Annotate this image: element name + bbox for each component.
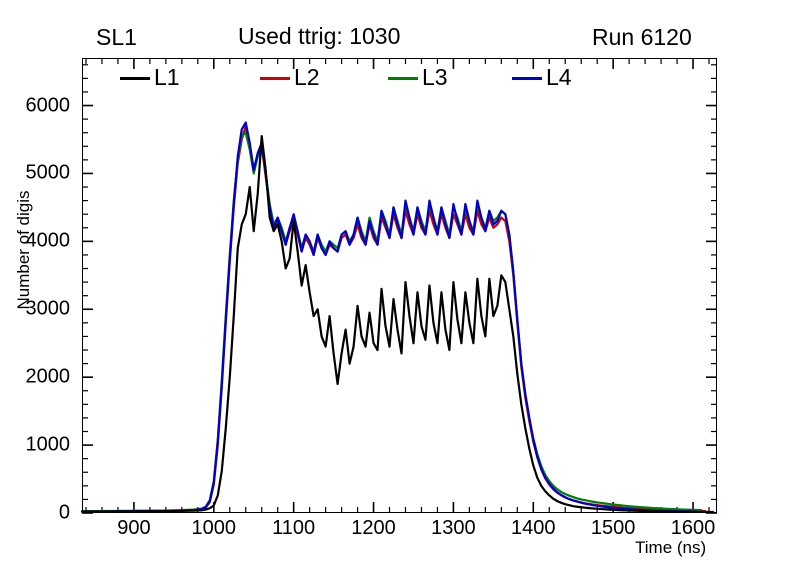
series-line-l4 (82, 123, 697, 512)
legend-label: L1 (154, 64, 180, 91)
y-tick-label: 0 (59, 502, 70, 525)
x-tick-label: 1100 (272, 517, 315, 540)
legend-swatch-l3 (388, 77, 418, 80)
legend-swatch-l1 (120, 77, 150, 80)
axis-ticks (82, 58, 717, 513)
x-tick-label: 1200 (351, 517, 396, 540)
legend-label: L2 (294, 64, 320, 91)
legend-label: L4 (546, 64, 572, 91)
y-axis-title: Number of digis (14, 140, 34, 360)
series-line-l2 (82, 126, 705, 511)
x-tick-label: 1500 (591, 517, 636, 540)
legend-swatch-l2 (260, 77, 290, 80)
chart-root: SL1 Used ttrig: 1030 Run 6120 0100020003… (0, 0, 796, 572)
y-tick-label: 6000 (26, 94, 71, 117)
legend-swatch-l4 (512, 77, 542, 80)
legend-label: L3 (422, 64, 448, 91)
y-tick-label: 1000 (26, 434, 71, 457)
x-tick-label: 1000 (192, 517, 237, 540)
x-axis-title: Time (ns) (635, 538, 706, 558)
x-tick-label: 1600 (671, 517, 716, 540)
x-tick-label: 1300 (431, 517, 476, 540)
series-line-l1 (82, 136, 713, 512)
chart-canvas (0, 0, 796, 572)
y-tick-label: 2000 (26, 366, 71, 389)
x-tick-label: 900 (117, 517, 150, 540)
data-curves (82, 123, 713, 512)
x-tick-label: 1400 (511, 517, 556, 540)
